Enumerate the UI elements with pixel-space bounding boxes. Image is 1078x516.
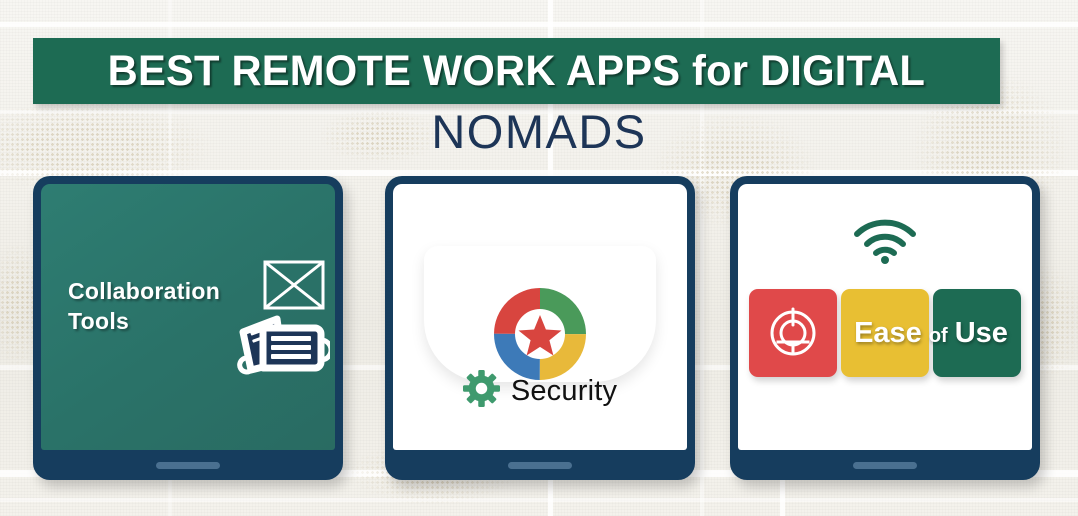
home-indicator[interactable]: [156, 462, 220, 469]
page-title-line2: NOMADS: [0, 104, 1078, 159]
card-security[interactable]: Security: [385, 176, 695, 480]
tablet-screen: Security: [393, 184, 687, 450]
wifi-icon: [853, 216, 917, 269]
home-indicator[interactable]: [508, 462, 572, 469]
security-label: Security: [511, 375, 617, 408]
tablet-bottom-bezel: [738, 450, 1032, 480]
tile-red[interactable]: [749, 289, 837, 377]
lifebuoy-icon: [768, 305, 818, 362]
security-content-panel: Security: [424, 246, 656, 382]
ease-of-use-tiles: Ease of Use: [749, 289, 1021, 377]
label-line-2: Tools: [68, 306, 220, 336]
card-collaboration-tools[interactable]: Collaboration Tools: [33, 176, 343, 480]
label-line-1: Collaboration: [68, 276, 220, 306]
tablet-screen: Collaboration Tools: [41, 184, 335, 450]
tile-green[interactable]: [933, 289, 1021, 377]
security-label-row: Security: [424, 370, 656, 412]
collaboration-tools-label: Collaboration Tools: [68, 276, 220, 337]
card-ease-of-use[interactable]: Ease of Use: [730, 176, 1040, 480]
page-title-line1: BEST REMOTE WORK APPS for DIGITAL: [108, 47, 925, 96]
tablet-bottom-bezel: [393, 450, 687, 480]
title-banner: BEST REMOTE WORK APPS for DIGITAL: [33, 38, 1000, 104]
infographic-poster: BEST REMOTE WORK APPS for DIGITAL NOMADS…: [0, 0, 1078, 516]
envelope-icon: [263, 260, 325, 315]
tablet-screen: Ease of Use: [738, 184, 1032, 450]
tablet-bottom-bezel: [41, 450, 335, 480]
tile-yellow[interactable]: [841, 289, 929, 377]
home-indicator[interactable]: [853, 462, 917, 469]
gear-icon: [463, 370, 500, 412]
newspaper-icon: [237, 310, 330, 381]
